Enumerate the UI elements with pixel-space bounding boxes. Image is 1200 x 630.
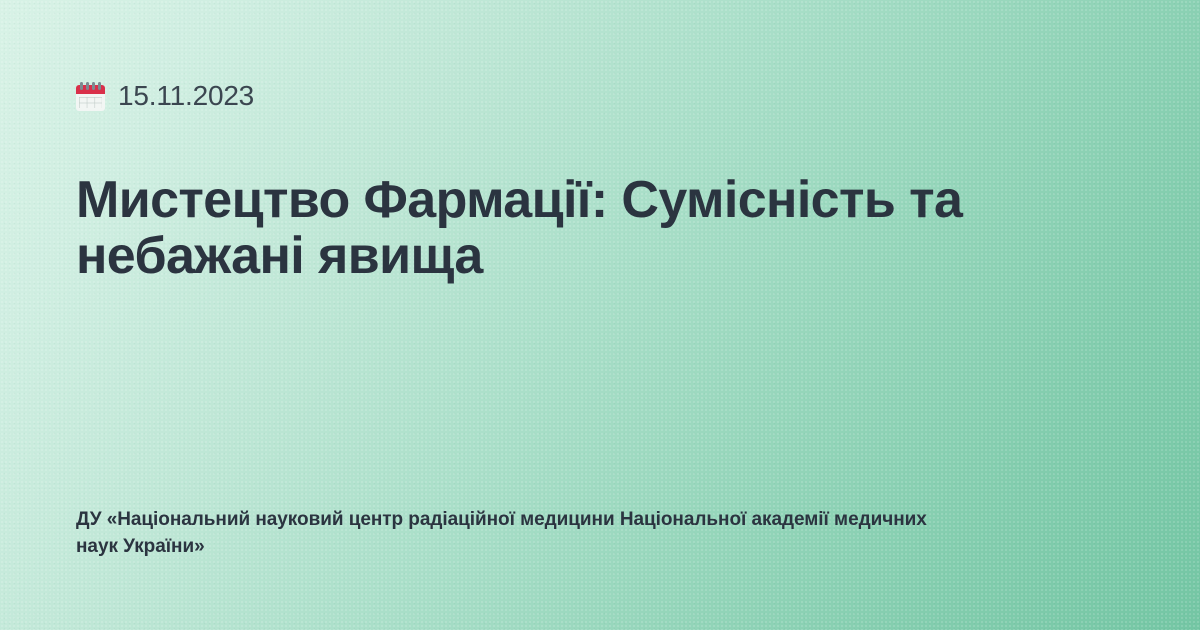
publication-date: 15.11.2023 — [76, 76, 254, 116]
calendar-icon — [76, 82, 105, 111]
social-preview-card: 15.11.2023 Мистецтво Фармації: Сумісніст… — [0, 0, 1200, 630]
publication-date-text: 15.11.2023 — [118, 79, 254, 113]
calendar-icon-ring — [80, 82, 83, 90]
calendar-icon-ring — [98, 82, 101, 90]
page-title: Мистецтво Фармації: Сумісність та небажа… — [76, 172, 1076, 284]
card-content: 15.11.2023 Мистецтво Фармації: Сумісніст… — [0, 0, 1200, 630]
calendar-icon-ring — [92, 82, 95, 90]
calendar-icon-ring — [86, 82, 89, 90]
calendar-icon-grid — [79, 97, 102, 108]
organization-name: ДУ «Національний науковий центр радіацій… — [76, 506, 956, 560]
